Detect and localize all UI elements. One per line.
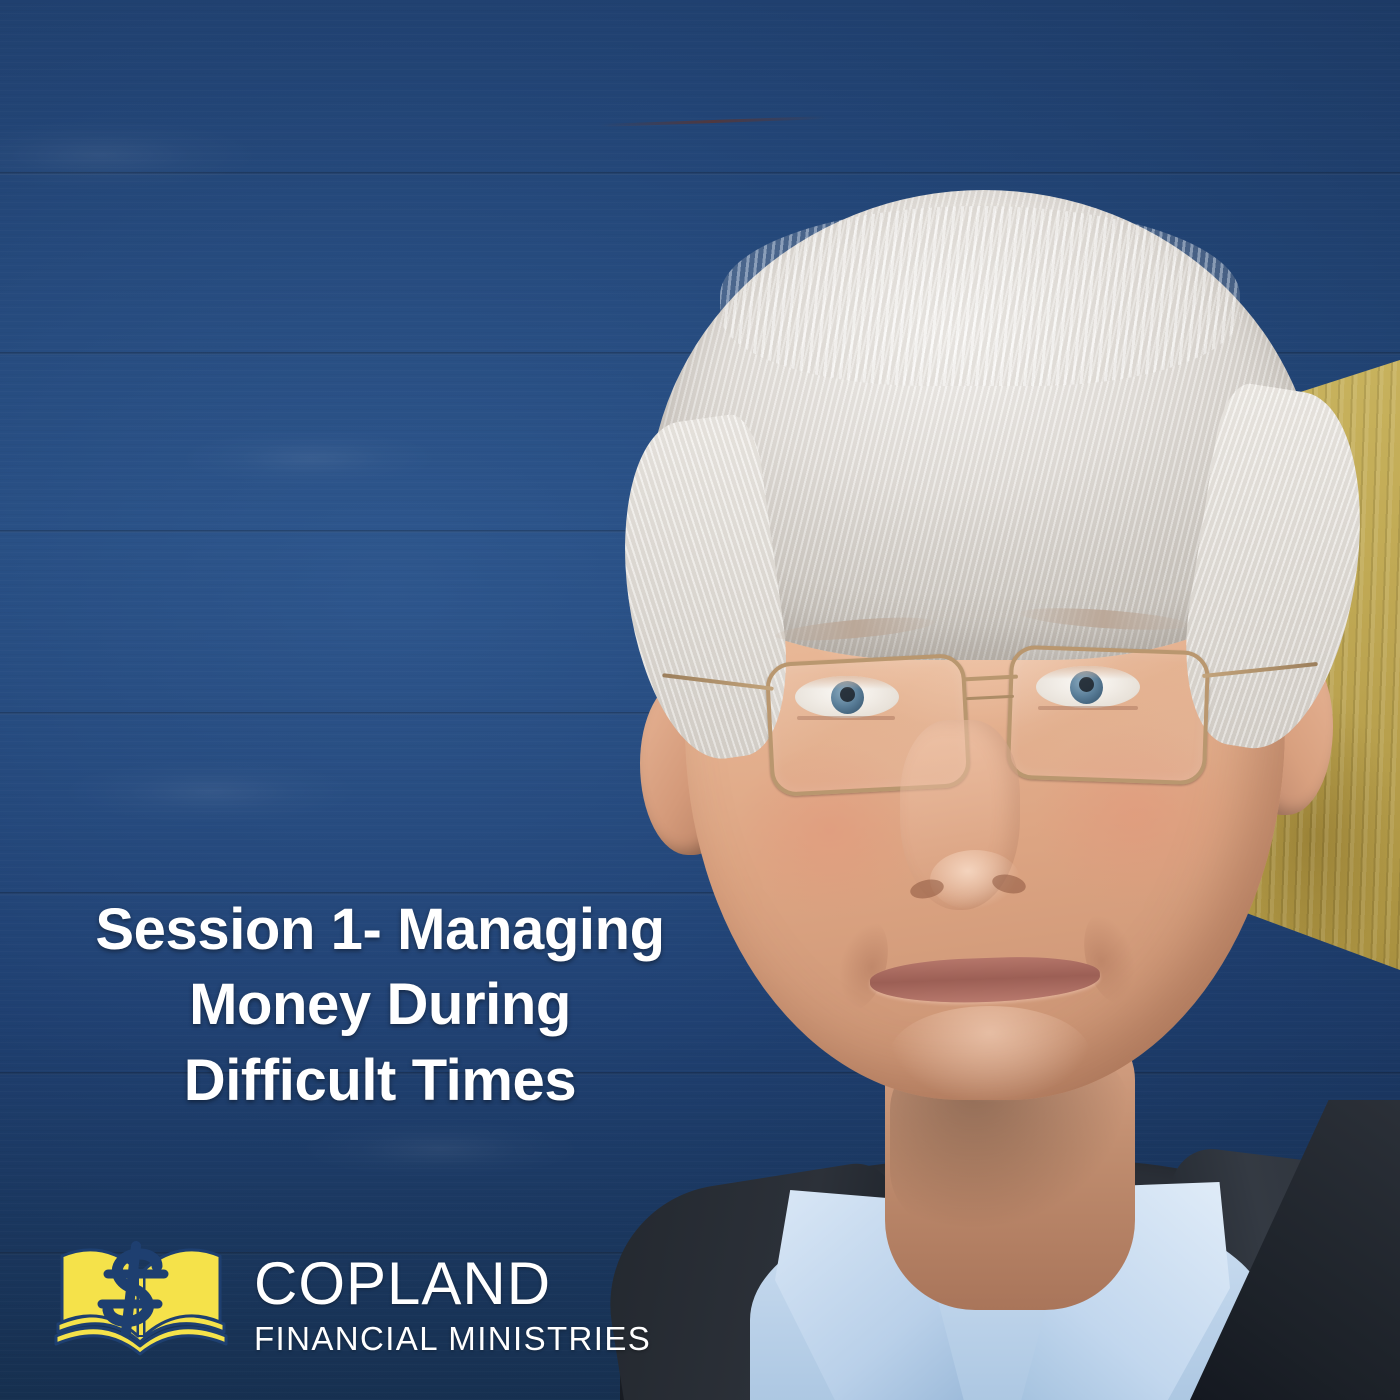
brand-wordmark: COPLAND FINANCIAL MINISTRIES [254,1254,651,1355]
brand-logo: COPLAND FINANCIAL MINISTRIES [52,1240,651,1368]
brand-name: COPLAND [254,1254,651,1314]
glasses-lens-right [1006,645,1211,786]
hair-sweep [720,206,1240,386]
episode-title: Session 1- Managing Money During Difficu… [0,892,760,1118]
open-book-dollar-icon [52,1240,232,1368]
glasses-bridge-bar [966,695,1014,701]
episode-cover-artwork: Session 1- Managing Money During Difficu… [0,0,1400,1400]
chin [890,1006,1090,1102]
brand-subtitle: FINANCIAL MINISTRIES [254,1322,651,1355]
